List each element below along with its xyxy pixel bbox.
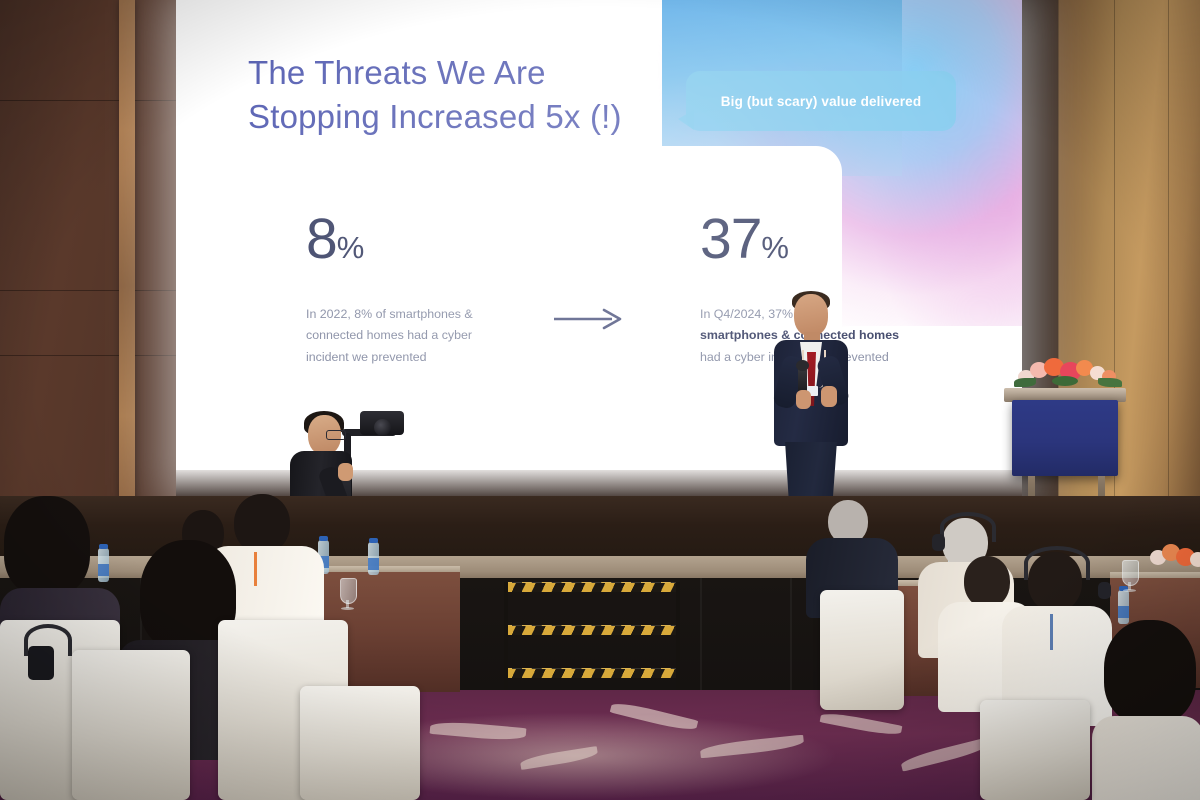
cameraman-hand — [338, 463, 353, 481]
audience-chair — [300, 686, 420, 800]
back-wall-left — [0, 0, 176, 520]
podium: VNNIC — [1012, 400, 1118, 476]
headset-icon — [1024, 546, 1090, 580]
speaker-head — [794, 294, 828, 336]
headset-icon — [940, 512, 996, 542]
audience-chair — [72, 650, 190, 800]
headset-icon — [24, 624, 72, 656]
slide-title: The Threats We Are Stopping Increased 5x… — [248, 51, 718, 138]
stat-number-left: 8 — [306, 207, 337, 271]
transition-arrow-icon — [554, 308, 626, 330]
microphone-capsule — [796, 360, 809, 371]
speaker-hand-right — [821, 386, 837, 407]
stat-unit-left: % — [337, 230, 365, 265]
callout-bubble-text: Big (but scary) value delivered — [721, 94, 921, 109]
side-flower-arrangement — [1148, 540, 1200, 580]
conference-photo: The Threats We Are Stopping Increased 5x… — [0, 0, 1200, 800]
audience-person-long-hair — [1092, 620, 1200, 800]
audience-head — [1104, 620, 1196, 724]
glasses-icon — [326, 430, 346, 440]
stage-steps — [506, 582, 678, 698]
bottle-label — [1118, 606, 1129, 618]
wine-glass-base — [341, 607, 354, 610]
audience-chair — [980, 700, 1090, 800]
audience-chair — [820, 590, 904, 710]
headset-earcup — [932, 534, 945, 551]
slide-title-line-1: The Threats We Are — [248, 51, 718, 95]
stat-block-left: 8% In 2022, 8% of smartphones & connecte… — [306, 211, 496, 368]
stat-value-right: 37% — [700, 211, 900, 268]
lanyard — [1050, 614, 1053, 650]
callout-bubble: Big (but scary) value delivered — [686, 71, 956, 131]
stat-value-left: 8% — [306, 211, 496, 268]
stat-number-right: 37 — [700, 207, 761, 271]
audience-head — [4, 496, 90, 596]
wood-trim-strip — [119, 0, 135, 520]
slide-title-line-2: Stopping Increased 5x (!) — [248, 95, 718, 139]
camera-lens-icon — [374, 419, 391, 436]
bottle-label — [368, 558, 379, 570]
speaker-hand-left — [796, 390, 811, 409]
stat-caption-left: In 2022, 8% of smartphones & connected h… — [306, 304, 496, 368]
wine-glass-base — [1123, 589, 1136, 592]
audience-body — [1092, 716, 1200, 800]
headset-earcup — [1098, 582, 1111, 599]
bottle-cap — [369, 538, 378, 543]
stat-unit-right: % — [761, 230, 789, 265]
